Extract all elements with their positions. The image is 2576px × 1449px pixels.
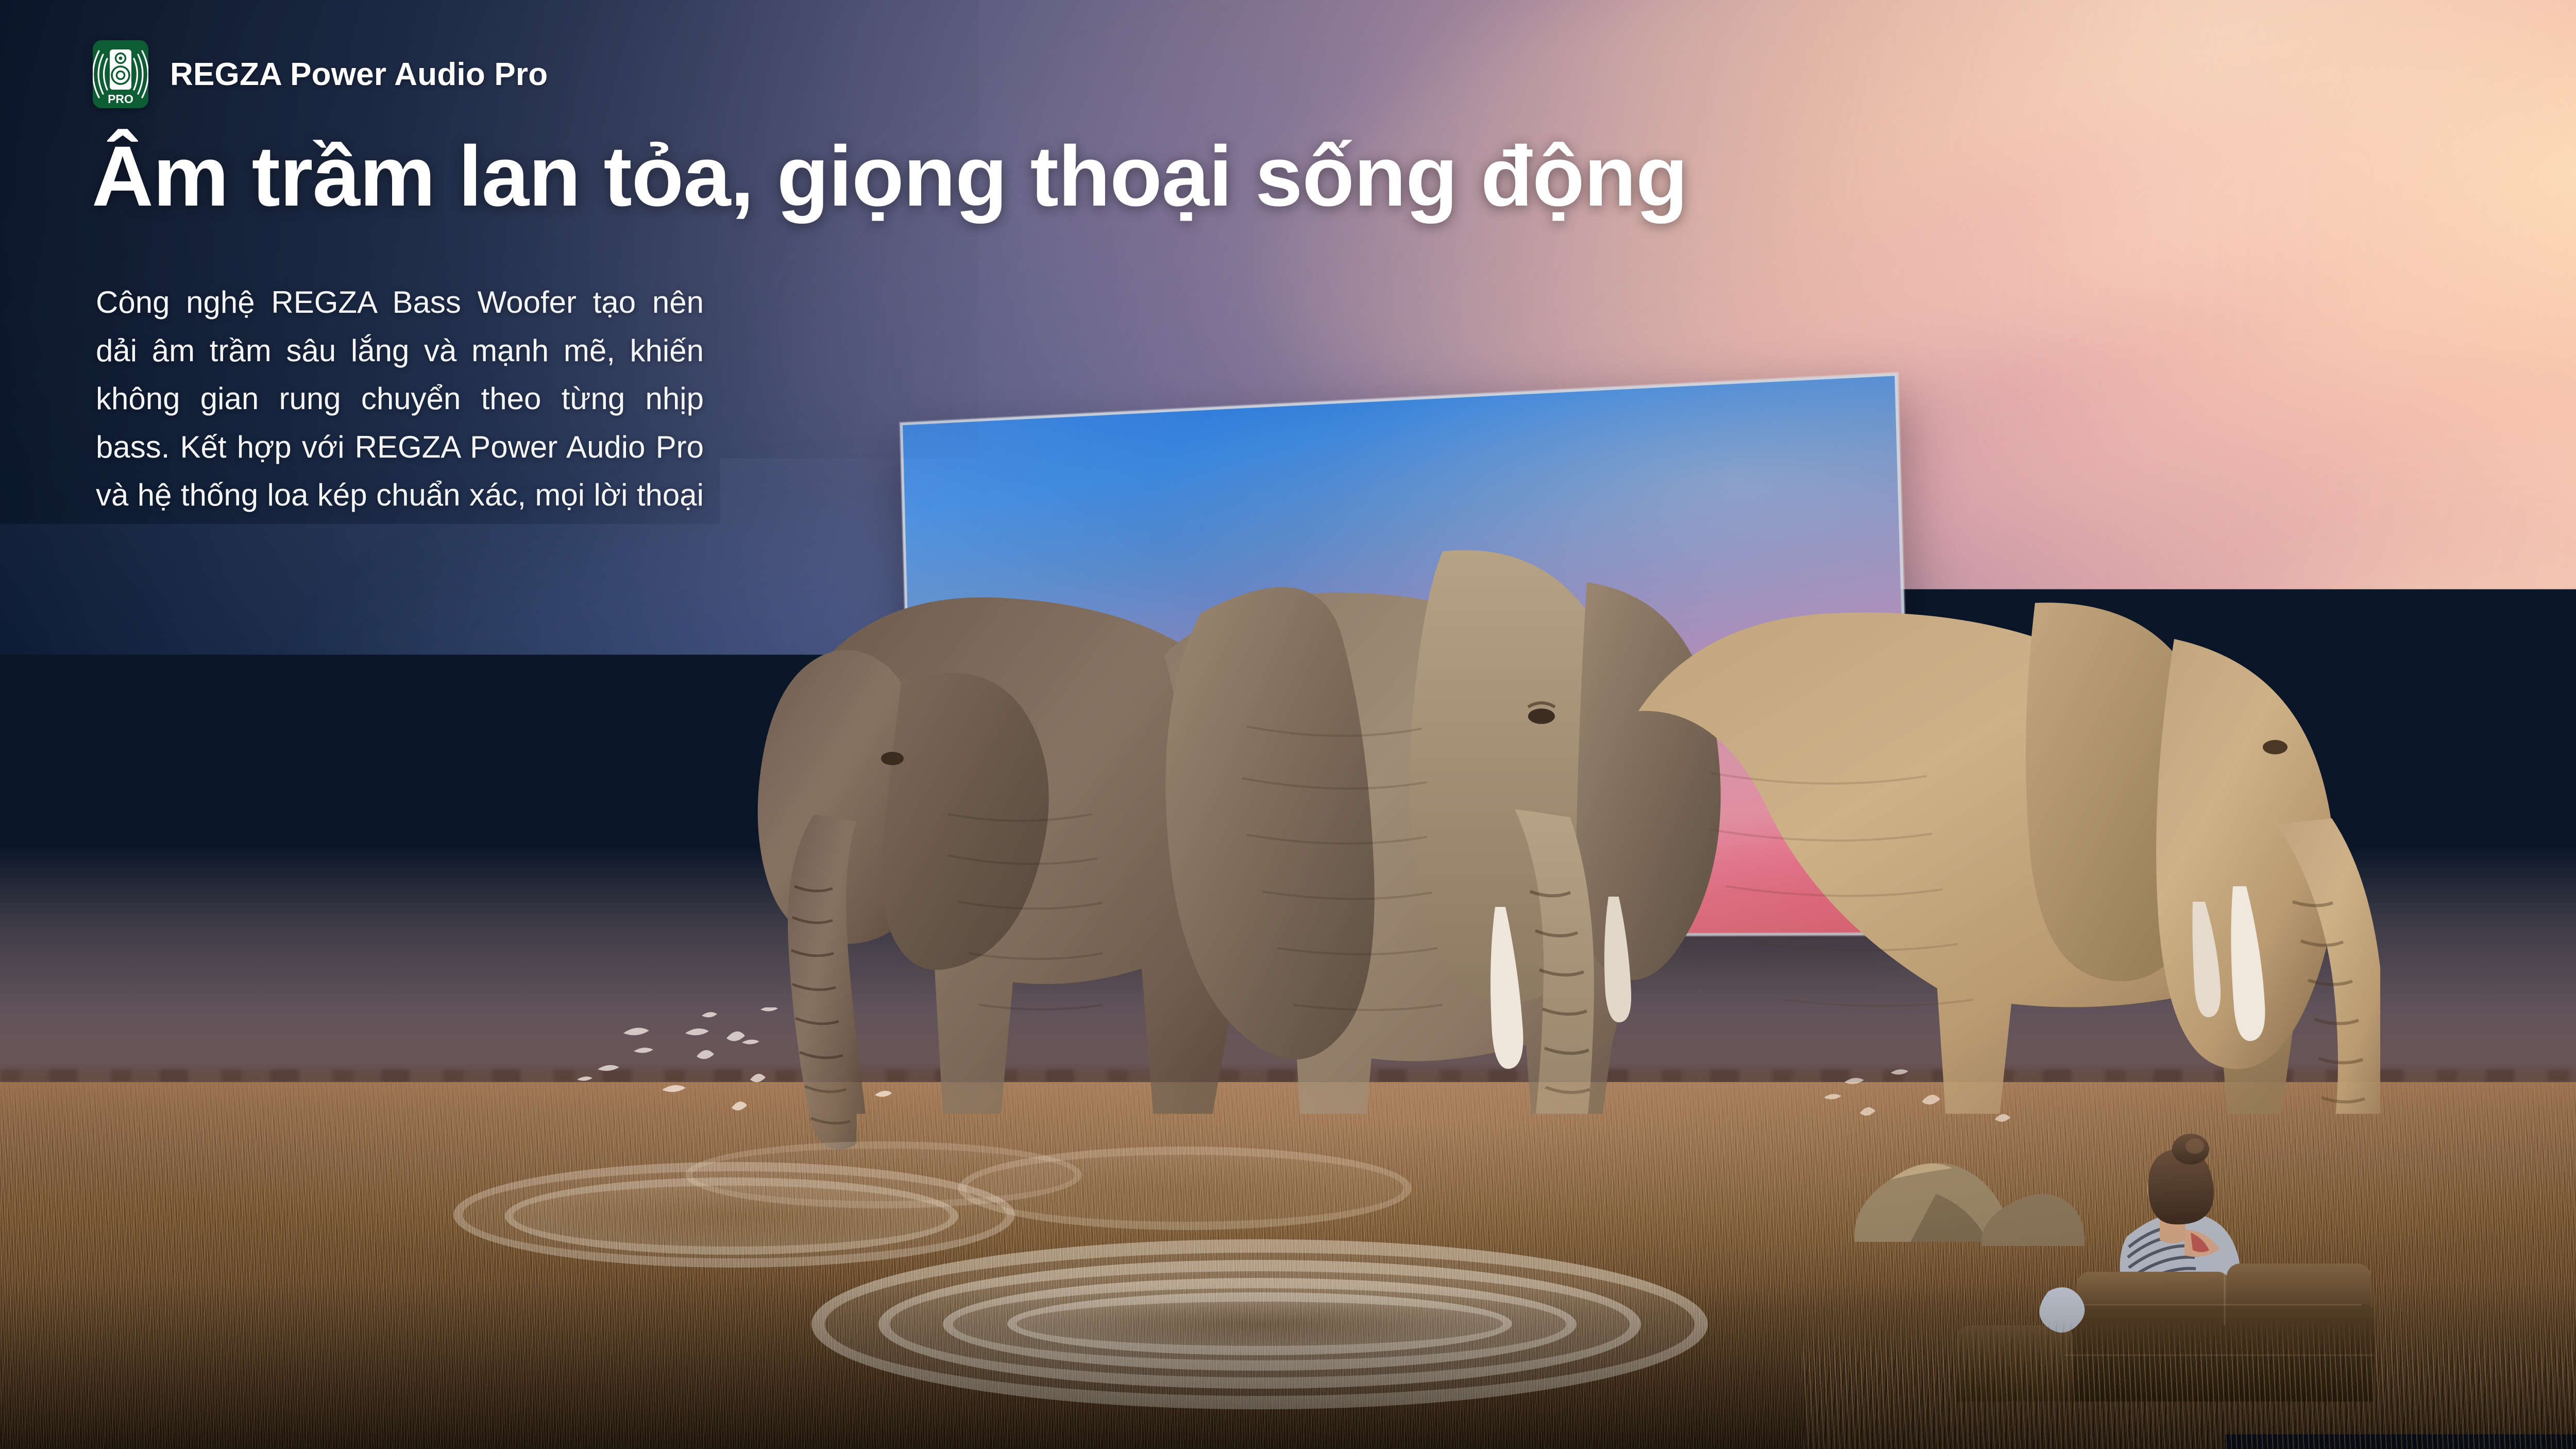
speaker-pro-icon: PRO	[93, 40, 148, 108]
pro-caption: PRO	[108, 92, 133, 106]
power-audio-pro-label: REGZA Power Audio Pro	[170, 56, 548, 93]
bass-woofer-badge[interactable]: REGZA Bass Woofer	[100, 664, 495, 718]
power-audio-pro-badge[interactable]: PRO REGZA Power Audio Pro	[93, 40, 548, 108]
elephant-right	[1607, 495, 2380, 1175]
page-title: Âm trầm lan tỏa, giọng thoại sống động	[92, 131, 1687, 222]
promo-banner: PRO REGZA Power Audio Pro Âm trầm lan tỏ…	[0, 0, 2576, 1449]
body-paragraph: Công nghệ REGZA Bass Woofer tạo nên dải …	[96, 278, 704, 616]
bass-woofer-label: REGZA Bass Woofer	[179, 673, 495, 710]
woofer-driver-icon	[100, 664, 150, 718]
ground-vignette	[0, 1082, 2576, 1449]
